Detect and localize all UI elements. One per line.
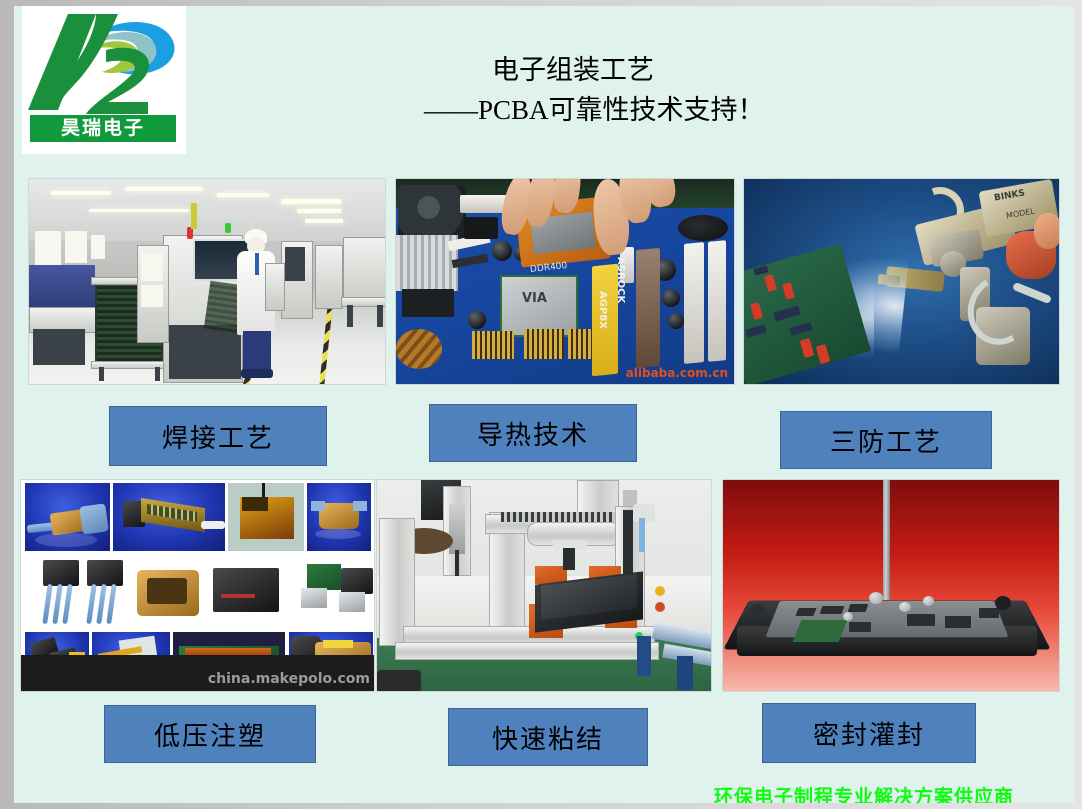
process-label-text: 低压注塑 [154,716,266,753]
footer-slogan: 环保电子制程专业解决方案供应商 [714,782,1014,803]
process-label-text: 导热技术 [477,415,589,452]
process-label-text: 快速粘结 [492,719,604,756]
logo-company-name: 昊瑞电子 [30,115,176,142]
process-label-conformal[interactable]: 三防工艺 [780,411,992,469]
slide-frame: 昊瑞电子 电子组装工艺 ——PCBA可靠性技术支持！ [0,0,1082,809]
potting-encapsulation-photo [722,479,1060,692]
process-label-bonding[interactable]: 快速粘结 [448,708,648,766]
slide-canvas: 昊瑞电子 电子组装工艺 ——PCBA可靠性技术支持！ [14,6,1074,803]
title-line-2: ——PCBA可靠性技术支持！ [414,90,934,130]
low-pressure-molding-collage-photo: china.makepolo.com [20,479,375,692]
company-logo: 昊瑞电子 [22,6,186,154]
thermal-pad-on-motherboard-photo: VIA [395,178,735,385]
process-label-text: 密封灌封 [813,715,925,752]
page-title: 电子组装工艺 ——PCBA可靠性技术支持！ [414,50,934,130]
process-label-text: 三防工艺 [830,422,942,459]
process-label-potting[interactable]: 密封灌封 [762,703,976,763]
title-line-1: 电子组装工艺 [414,50,934,90]
process-label-welding[interactable]: 焊接工艺 [109,406,327,466]
process-label-thermal[interactable]: 导热技术 [429,404,637,462]
process-label-molding[interactable]: 低压注塑 [104,705,316,763]
process-label-text: 焊接工艺 [162,418,274,455]
conformal-coating-spray-photo: BINKS MODEL [743,178,1060,385]
dispensing-robot-photo [376,479,712,692]
photo-watermark: alibaba.com.cn [626,366,728,380]
smt-production-line-photo [28,178,386,385]
